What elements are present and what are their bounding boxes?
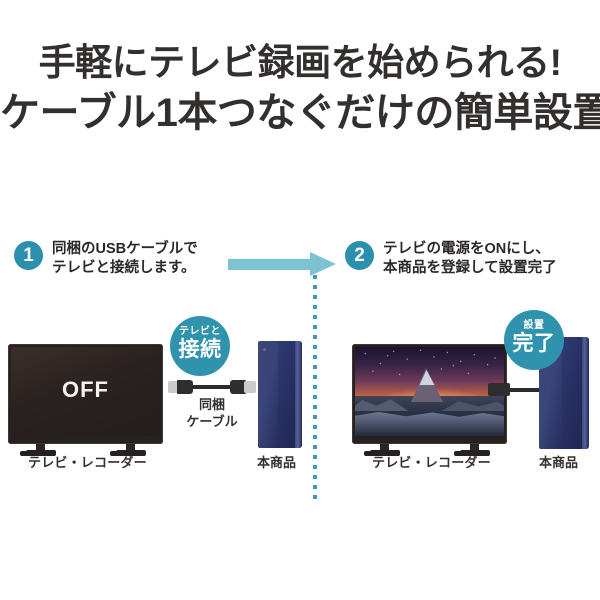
cable-plug-right-metal — [244, 381, 256, 393]
hdd-led-icon — [263, 348, 266, 351]
product-2-caption: 本商品 — [539, 452, 578, 471]
complete-bubble-small-text: 設置 — [504, 320, 564, 332]
arrow-head — [310, 252, 336, 276]
step-2-description: テレビの電源をONにし、 本商品を登録して設置完了 — [383, 240, 557, 278]
tv-screen-on — [355, 347, 504, 436]
cable-plug-body — [488, 383, 510, 396]
headline-line-1: 手軽にテレビ録画を始められる! — [0, 40, 600, 86]
connect-bubble-small-text: テレビと — [170, 326, 230, 338]
headline-line-2: ケーブル1本つなぐだけの簡単設置 — [0, 88, 600, 138]
tv-off-illustration: OFF — [8, 344, 163, 444]
cable-wire — [188, 385, 236, 389]
step-1-text-line-1: 同梱のUSBケーブルで — [52, 240, 198, 259]
cable-caption: 同梱 ケーブル — [172, 396, 252, 430]
step-2-text-line-2: 本商品を登録して設置完了 — [383, 259, 557, 278]
hdd-edge — [295, 341, 302, 448]
product-hdd-step-1 — [258, 341, 302, 448]
cable-caption-line-2: ケーブル — [172, 413, 252, 430]
screen-mountain-snow — [419, 370, 434, 385]
page-title: 手軽にテレビ録画を始められる! ケーブル1本つなぐだけの簡単設置 — [0, 40, 600, 138]
connect-bubble-big-text: 接続 — [170, 338, 230, 362]
step-2-number-badge: 2 — [345, 241, 374, 270]
section-divider — [313, 275, 317, 503]
step-2-text-line-1: テレビの電源をONにし、 — [383, 240, 557, 259]
arrow-shaft — [228, 259, 312, 270]
complete-bubble-big-text: 完了 — [504, 332, 564, 356]
usb-cable-illustration — [168, 379, 256, 395]
connect-bubble: テレビと 接続 — [170, 316, 230, 376]
cable-caption-line-1: 同梱 — [172, 396, 252, 413]
step-1-number-badge: 1 — [14, 241, 43, 270]
hdd-gloss — [258, 341, 278, 448]
product-1-caption: 本商品 — [257, 452, 296, 471]
step-1-text-line-2: テレビと接続します。 — [52, 259, 198, 278]
tv-2-caption: テレビ・レコーダー — [372, 452, 491, 471]
tv-on-illustration — [352, 344, 507, 444]
screen-snowfield — [355, 409, 504, 436]
complete-bubble: 設置 完了 — [504, 310, 564, 370]
tv-screen-off: OFF — [11, 347, 160, 436]
cable-plug-left-body — [177, 380, 193, 394]
hdd-edge — [582, 337, 589, 449]
tv-screen-off-label: OFF — [11, 377, 160, 403]
flow-arrow-icon — [228, 252, 340, 276]
tv-1-caption: テレビ・レコーダー — [28, 452, 147, 471]
step-1-description: 同梱のUSBケーブルで テレビと接続します。 — [52, 240, 198, 278]
usb-cable-connected-illustration — [488, 383, 544, 397]
infographic-canvas: 手軽にテレビ録画を始められる! ケーブル1本つなぐだけの簡単設置 1 同梱のUS… — [0, 0, 600, 600]
